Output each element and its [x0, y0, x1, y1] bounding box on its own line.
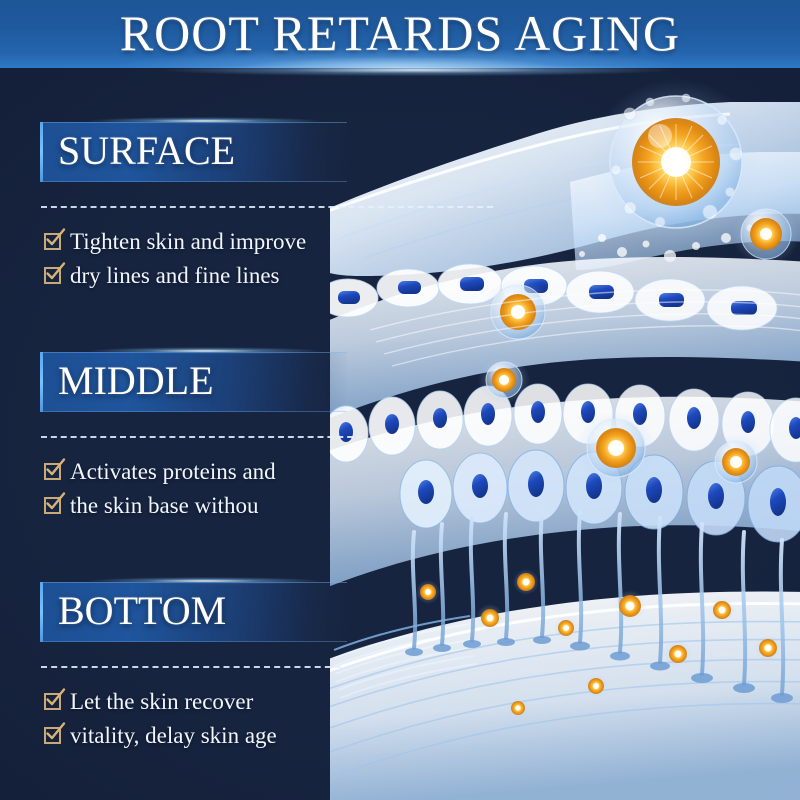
- list-item: the skin base withou: [44, 490, 404, 522]
- section-label-bottom: BOTTOM: [58, 584, 226, 638]
- bullet-text: vitality, delay skin age: [70, 720, 277, 752]
- list-item: Activates proteins and: [44, 456, 404, 488]
- list-item: Tighten skin and improve: [44, 226, 404, 258]
- header-band: ROOT RETARDS AGING: [0, 0, 800, 68]
- section-divider-surface: [41, 206, 493, 208]
- bullet-text: Tighten skin and improve: [70, 226, 306, 258]
- checkbox-checked-icon: [44, 463, 61, 480]
- bullet-list-surface: Tighten skin and improve dry lines and f…: [44, 226, 404, 294]
- list-item: Let the skin recover: [44, 686, 404, 718]
- bullet-text: the skin base withou: [70, 490, 258, 522]
- list-item: dry lines and fine lines: [44, 260, 404, 292]
- section-divider-middle: [41, 436, 363, 438]
- checkbox-checked-icon: [44, 267, 61, 284]
- bullet-text: Let the skin recover: [70, 686, 253, 718]
- bullet-list-middle: Activates proteins and the skin base wit…: [44, 456, 404, 524]
- section-label-surface: SURFACE: [58, 124, 235, 178]
- bullet-text: dry lines and fine lines: [70, 260, 280, 292]
- list-item: vitality, delay skin age: [44, 720, 404, 752]
- checkbox-checked-icon: [44, 727, 61, 744]
- section-divider-bottom: [41, 666, 341, 668]
- section-label-middle: MIDDLE: [58, 354, 214, 408]
- bullet-text: Activates proteins and: [70, 456, 276, 488]
- page-title: ROOT RETARDS AGING: [0, 2, 800, 64]
- checkbox-checked-icon: [44, 233, 61, 250]
- bullet-list-bottom: Let the skin recover vitality, delay ski…: [44, 686, 404, 754]
- checkbox-checked-icon: [44, 497, 61, 514]
- infographic-poster: ROOT RETARDS AGING SURFACE Tighten skin …: [0, 0, 800, 800]
- checkbox-checked-icon: [44, 693, 61, 710]
